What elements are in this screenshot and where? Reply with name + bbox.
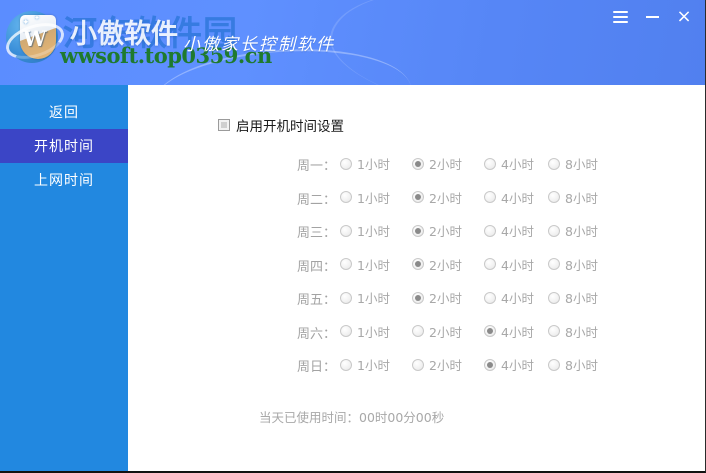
radio-button[interactable]	[412, 225, 424, 237]
radio-button[interactable]	[484, 225, 496, 237]
duration-option-label: 4小时	[501, 188, 534, 207]
close-button[interactable]: ×	[668, 2, 700, 32]
radio-button[interactable]	[548, 225, 560, 237]
day-label: 周日：	[276, 356, 336, 375]
duration-option[interactable]: 4小时	[484, 255, 534, 274]
duration-option[interactable]: 8小时	[548, 322, 598, 341]
enable-boot-time-checkbox[interactable]	[218, 119, 230, 131]
duration-option-label: 4小时	[501, 322, 534, 341]
duration-option-label: 8小时	[565, 355, 598, 374]
duration-option-label: 2小时	[429, 322, 462, 341]
sidebar-item-label: 上网时间	[34, 170, 94, 190]
duration-option-label: 4小时	[501, 288, 534, 307]
star-icon-2: ✦	[34, 14, 40, 22]
duration-option-label: 8小时	[565, 154, 598, 173]
duration-option-label: 2小时	[429, 355, 462, 374]
main-content: 启用开机时间设置 周一：1小时2小时4小时8小时周二：1小时2小时4小时8小时周…	[128, 85, 705, 471]
duration-option-label: 4小时	[501, 255, 534, 274]
duration-option-label: 1小时	[357, 322, 390, 341]
sidebar-item-online-time[interactable]: 上网时间	[0, 163, 128, 197]
duration-option-label: 1小时	[357, 288, 390, 307]
radio-button[interactable]	[484, 292, 496, 304]
duration-option-label: 1小时	[357, 154, 390, 173]
radio-button[interactable]	[340, 359, 352, 371]
duration-option[interactable]: 8小时	[548, 255, 598, 274]
duration-option-label: 1小时	[357, 355, 390, 374]
minimize-button[interactable]	[636, 2, 668, 32]
radio-button[interactable]	[484, 359, 496, 371]
duration-option[interactable]: 1小时	[340, 355, 390, 374]
duration-option[interactable]: 4小时	[484, 355, 534, 374]
duration-option[interactable]: 4小时	[484, 322, 534, 341]
duration-option[interactable]: 1小时	[340, 221, 390, 240]
day-label: 周六：	[276, 323, 336, 342]
radio-button[interactable]	[484, 191, 496, 203]
app-tagline: 小傲家长控制软件	[183, 30, 335, 55]
app-window: W ✦ ✦ 河东软件园 小傲软件 wwsoft.top0359.cn 小傲家长控…	[0, 0, 706, 473]
banner-swoosh-decoration-2	[322, 0, 640, 85]
duration-option-label: 2小时	[429, 154, 462, 173]
duration-option-label: 8小时	[565, 288, 598, 307]
duration-option[interactable]: 4小时	[484, 154, 534, 173]
duration-option[interactable]: 4小时	[484, 288, 534, 307]
minimize-icon	[646, 16, 659, 18]
radio-button[interactable]	[340, 158, 352, 170]
sidebar-item-back[interactable]: 返回	[0, 95, 128, 129]
titlebar: W ✦ ✦ 河东软件园 小傲软件 wwsoft.top0359.cn 小傲家长控…	[0, 0, 706, 85]
radio-button[interactable]	[340, 292, 352, 304]
window-controls: ×	[604, 0, 700, 34]
duration-option[interactable]: 1小时	[340, 255, 390, 274]
duration-option[interactable]: 4小时	[484, 188, 534, 207]
duration-option[interactable]: 2小时	[412, 288, 462, 307]
duration-option[interactable]: 2小时	[412, 188, 462, 207]
sidebar-item-label: 返回	[49, 102, 79, 122]
sidebar-item-label: 开机时间	[34, 136, 94, 156]
radio-button[interactable]	[412, 325, 424, 337]
duration-option[interactable]: 8小时	[548, 221, 598, 240]
radio-button[interactable]	[548, 292, 560, 304]
day-label: 周一：	[276, 155, 336, 174]
radio-button[interactable]	[340, 191, 352, 203]
radio-button[interactable]	[412, 158, 424, 170]
day-row: 周五：1小时2小时4小时8小时	[128, 287, 705, 321]
duration-option[interactable]: 2小时	[412, 154, 462, 173]
star-icon: ✦	[22, 18, 30, 28]
day-settings-list: 周一：1小时2小时4小时8小时周二：1小时2小时4小时8小时周三：1小时2小时4…	[128, 153, 705, 388]
day-row: 周三：1小时2小时4小时8小时	[128, 220, 705, 254]
radio-button[interactable]	[412, 258, 424, 270]
duration-option-label: 2小时	[429, 255, 462, 274]
radio-button[interactable]	[340, 225, 352, 237]
radio-button[interactable]	[548, 258, 560, 270]
enable-boot-time-checkbox-row[interactable]: 启用开机时间设置	[218, 115, 344, 135]
duration-option-label: 4小时	[501, 355, 534, 374]
radio-button[interactable]	[340, 258, 352, 270]
radio-button[interactable]	[548, 325, 560, 337]
day-row: 周六：1小时2小时4小时8小时	[128, 321, 705, 355]
day-row: 周四：1小时2小时4小时8小时	[128, 254, 705, 288]
duration-option-label: 8小时	[565, 322, 598, 341]
day-row: 周日：1小时2小时4小时8小时	[128, 354, 705, 388]
duration-option[interactable]: 8小时	[548, 154, 598, 173]
radio-button[interactable]	[412, 191, 424, 203]
day-label: 周五：	[276, 289, 336, 308]
duration-option[interactable]: 1小时	[340, 188, 390, 207]
duration-option-label: 2小时	[429, 221, 462, 240]
duration-option-label: 2小时	[429, 188, 462, 207]
close-icon: ×	[676, 8, 691, 26]
duration-option[interactable]: 2小时	[412, 255, 462, 274]
app-logo: W ✦ ✦	[6, 9, 64, 67]
duration-option-label: 8小时	[565, 255, 598, 274]
duration-option-label: 8小时	[565, 221, 598, 240]
radio-button[interactable]	[548, 359, 560, 371]
duration-option[interactable]: 1小时	[340, 322, 390, 341]
radio-button[interactable]	[484, 258, 496, 270]
duration-option-label: 1小时	[357, 188, 390, 207]
duration-option[interactable]: 8小时	[548, 188, 598, 207]
duration-option[interactable]: 8小时	[548, 355, 598, 374]
duration-option-label: 1小时	[357, 255, 390, 274]
duration-option-label: 2小时	[429, 288, 462, 307]
radio-button[interactable]	[412, 359, 424, 371]
day-row: 周一：1小时2小时4小时8小时	[128, 153, 705, 187]
day-label: 周三：	[276, 222, 336, 241]
duration-option[interactable]: 8小时	[548, 288, 598, 307]
duration-option[interactable]: 1小时	[340, 154, 390, 173]
radio-button[interactable]	[484, 158, 496, 170]
duration-option[interactable]: 2小时	[412, 355, 462, 374]
day-row: 周二：1小时2小时4小时8小时	[128, 187, 705, 221]
duration-option-label: 1小时	[357, 221, 390, 240]
duration-option[interactable]: 2小时	[412, 221, 462, 240]
sidebar: 返回 开机时间 上网时间	[0, 85, 128, 471]
duration-option-label: 8小时	[565, 188, 598, 207]
menu-button[interactable]	[604, 2, 636, 32]
duration-option[interactable]: 4小时	[484, 221, 534, 240]
duration-option-label: 4小时	[501, 154, 534, 173]
day-label: 周四：	[276, 256, 336, 275]
duration-option[interactable]: 1小时	[340, 288, 390, 307]
radio-button[interactable]	[484, 325, 496, 337]
day-label: 周二：	[276, 189, 336, 208]
radio-button[interactable]	[548, 191, 560, 203]
radio-button[interactable]	[412, 292, 424, 304]
today-usage-status: 当天已使用时间：00时00分00秒	[259, 407, 444, 426]
radio-button[interactable]	[548, 158, 560, 170]
radio-button[interactable]	[340, 325, 352, 337]
duration-option[interactable]: 2小时	[412, 322, 462, 341]
hamburger-icon	[613, 8, 628, 26]
enable-boot-time-label: 启用开机时间设置	[236, 115, 344, 135]
sidebar-item-boot-time[interactable]: 开机时间	[0, 129, 128, 163]
duration-option-label: 4小时	[501, 221, 534, 240]
